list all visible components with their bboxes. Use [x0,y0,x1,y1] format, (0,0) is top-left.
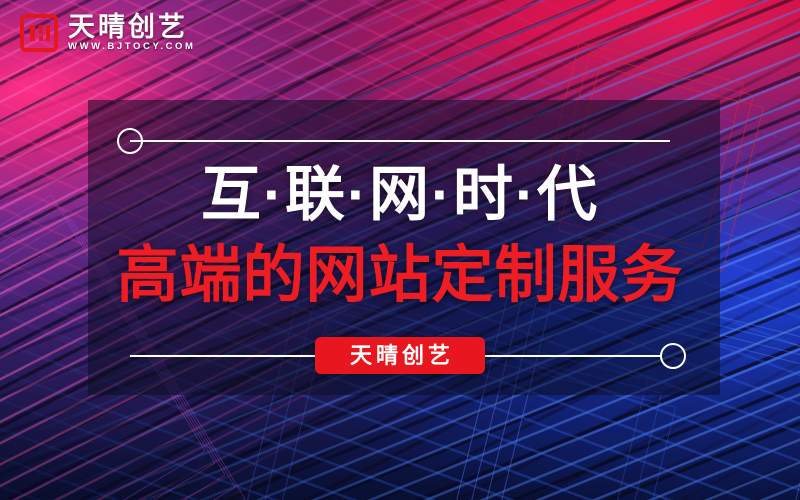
banner-root: 天晴创艺 WWW.BJTOCY.COM 互·联·网·时·代 高端的网站定制服务 … [0,0,800,500]
brand-logo[interactable]: 天晴创艺 WWW.BJTOCY.COM [20,14,196,52]
tianqing-square-monogram-icon [20,14,58,52]
brand-text-block: 天晴创艺 WWW.BJTOCY.COM [68,14,196,52]
brand-badge[interactable]: 天晴创艺 [315,337,485,374]
rule-top [130,140,670,142]
foreground-layer: 天晴创艺 WWW.BJTOCY.COM 互·联·网·时·代 高端的网站定制服务 … [0,0,800,500]
headline-secondary: 高端的网站定制服务 [0,243,800,308]
brand-website: WWW.BJTOCY.COM [68,42,196,52]
brand-badge-label: 天晴创艺 [346,345,454,367]
headline-primary: 互·联·网·时·代 [0,163,800,226]
brand-name: 天晴创艺 [68,14,196,41]
rule-bottom-right [485,355,660,357]
circle-outline-top-left [117,128,143,154]
rule-bottom-left [130,355,315,357]
circle-outline-bottom-right [660,343,686,369]
